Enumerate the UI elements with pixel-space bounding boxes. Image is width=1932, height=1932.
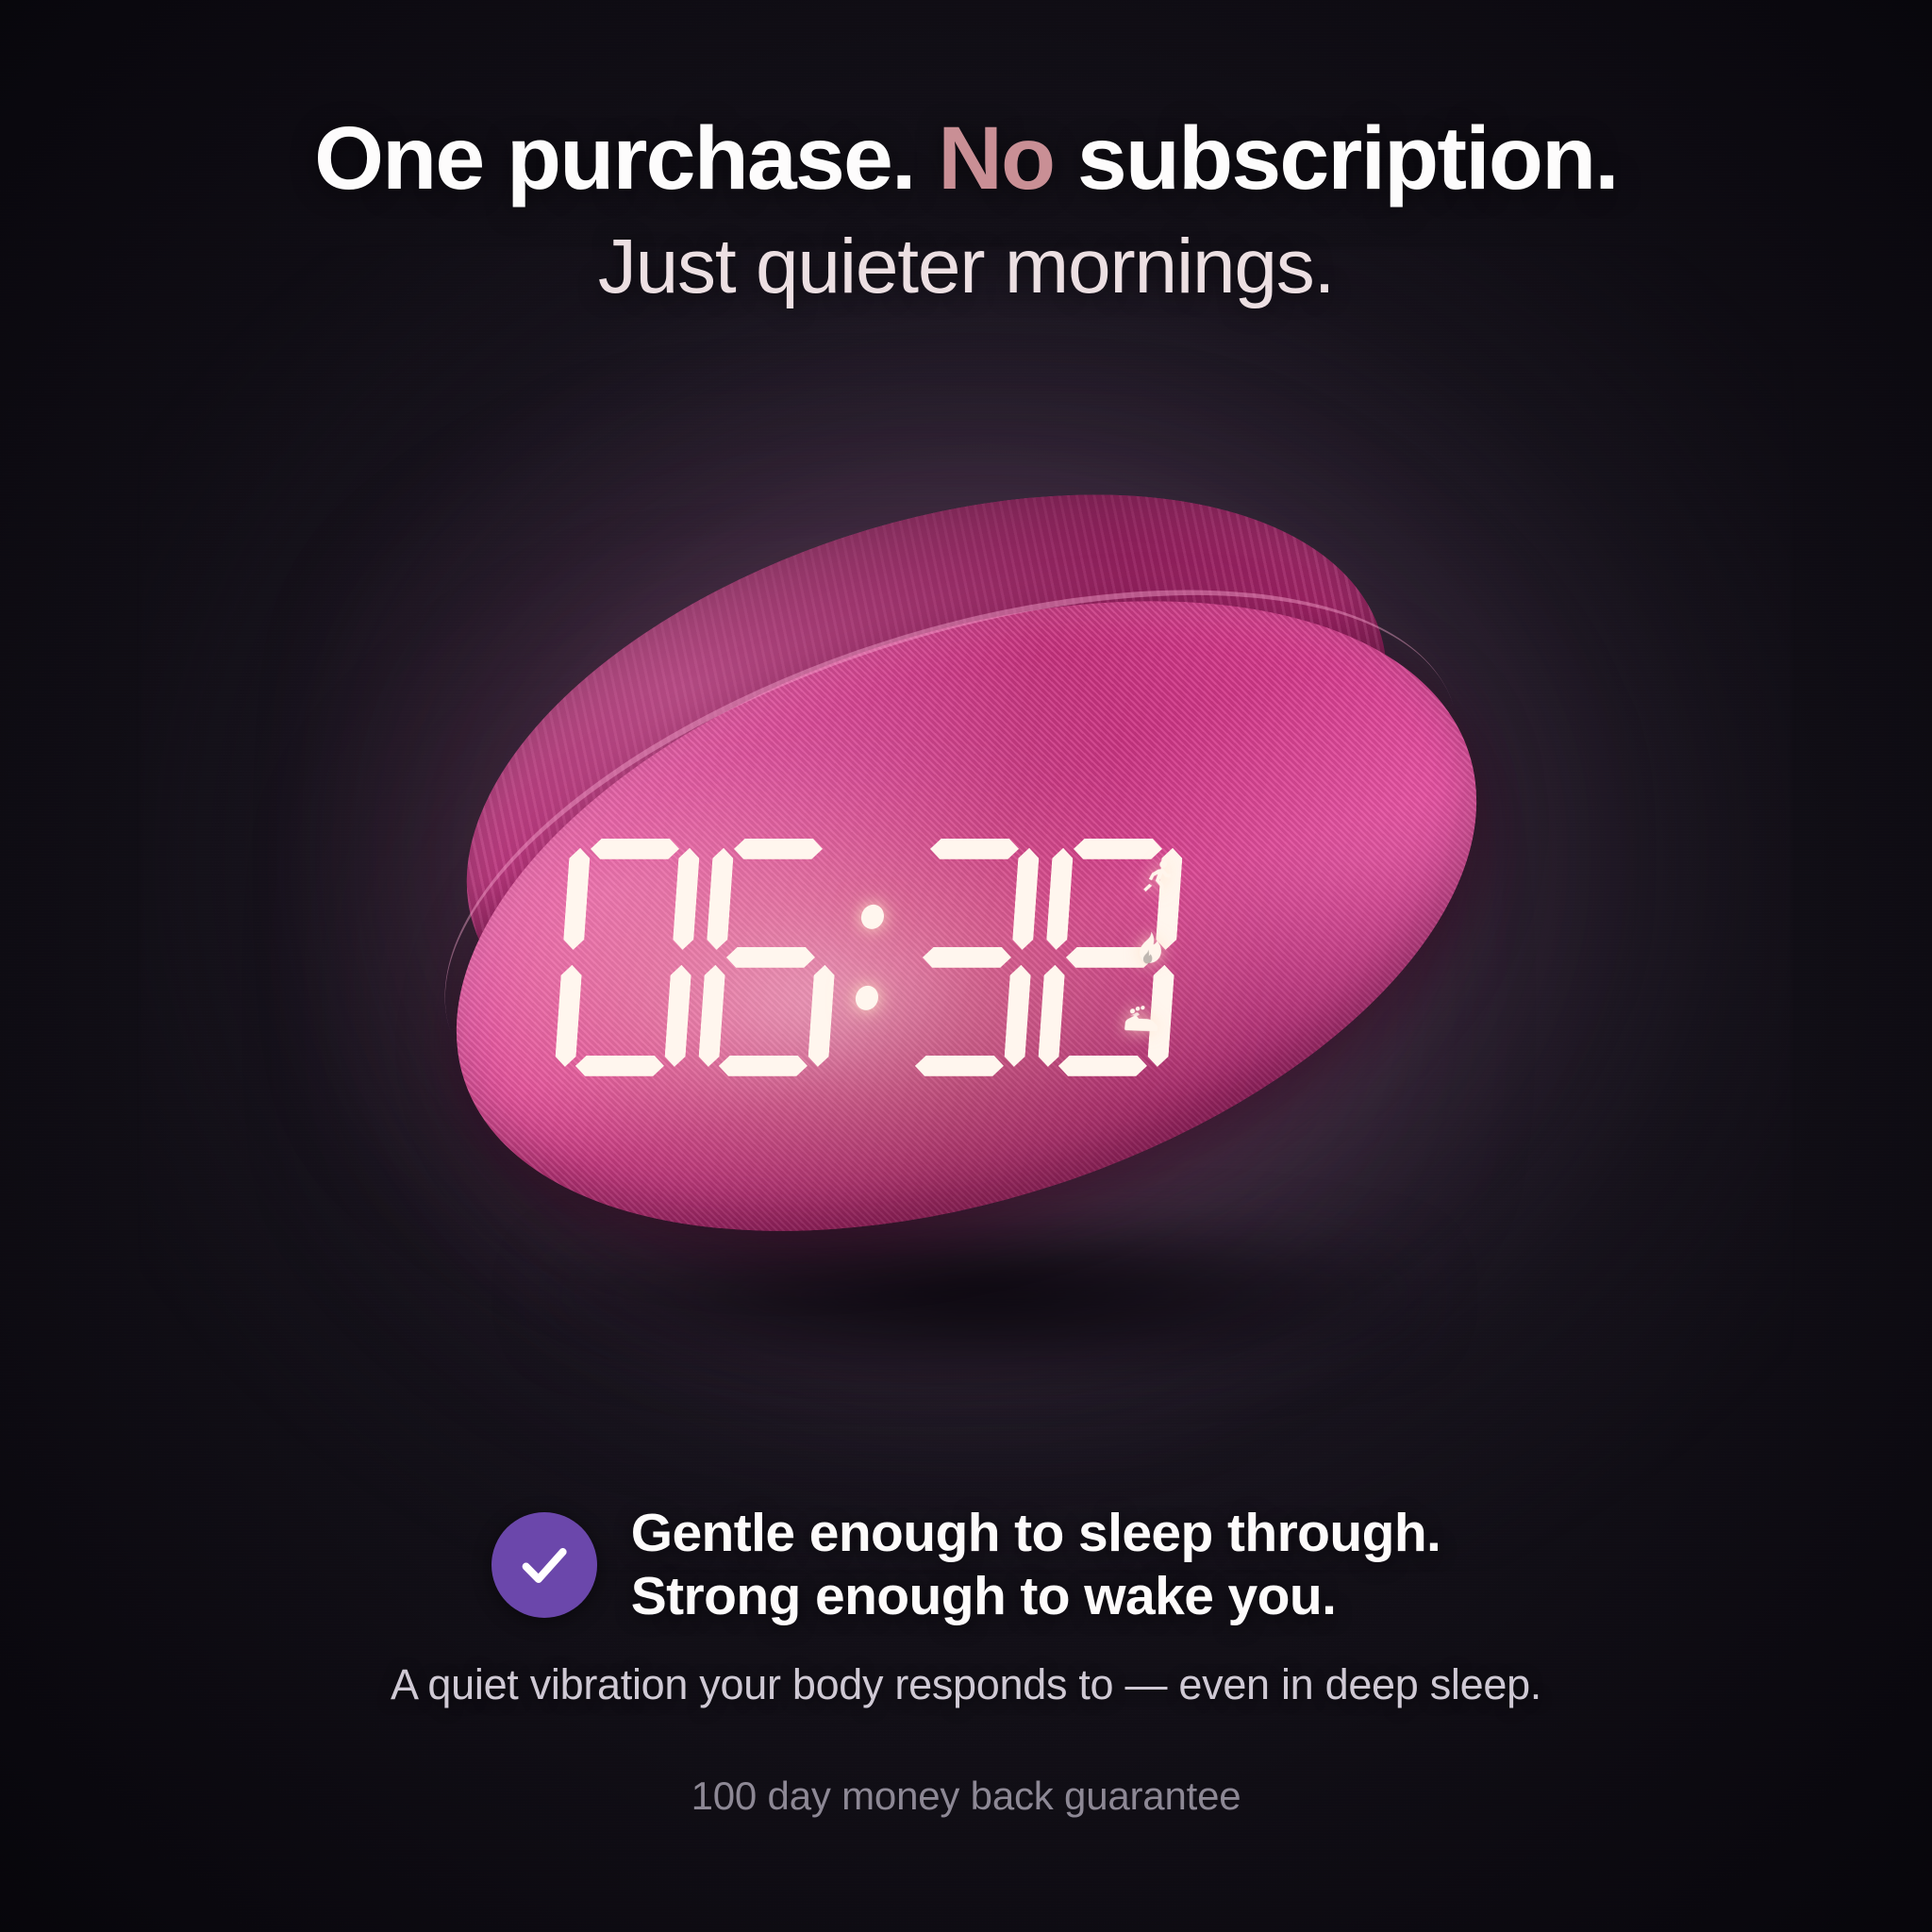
page-title: One purchase. No subscription. xyxy=(0,111,1932,207)
ad-canvas: One purchase. No subscription. Just quie… xyxy=(0,0,1932,1932)
headline-block: One purchase. No subscription. Just quie… xyxy=(0,111,1932,308)
headline-accent-word: No xyxy=(938,108,1054,208)
support-text: A quiet vibration your body responds to … xyxy=(0,1660,1932,1709)
benefit-line-2: Strong enough to wake you. xyxy=(631,1565,1441,1628)
running-person-icon xyxy=(1134,857,1177,897)
benefit-row: Gentle enough to sleep through. Strong e… xyxy=(0,1502,1932,1629)
status-badge xyxy=(491,1512,597,1618)
guarantee-text: 100 day money back guarantee xyxy=(0,1774,1932,1819)
headline-part-1: One purchase. xyxy=(314,108,938,208)
flame-icon xyxy=(1126,928,1170,969)
headline-part-2: subscription. xyxy=(1054,108,1618,208)
benefit-line-1: Gentle enough to sleep through. xyxy=(631,1502,1441,1565)
page-subtitle: Just quieter mornings. xyxy=(0,225,1932,309)
benefit-text: Gentle enough to sleep through. Strong e… xyxy=(631,1502,1441,1629)
product-image: 06:38 xyxy=(0,406,1932,1424)
footsteps-icon xyxy=(1119,1000,1162,1041)
check-icon xyxy=(515,1536,574,1594)
